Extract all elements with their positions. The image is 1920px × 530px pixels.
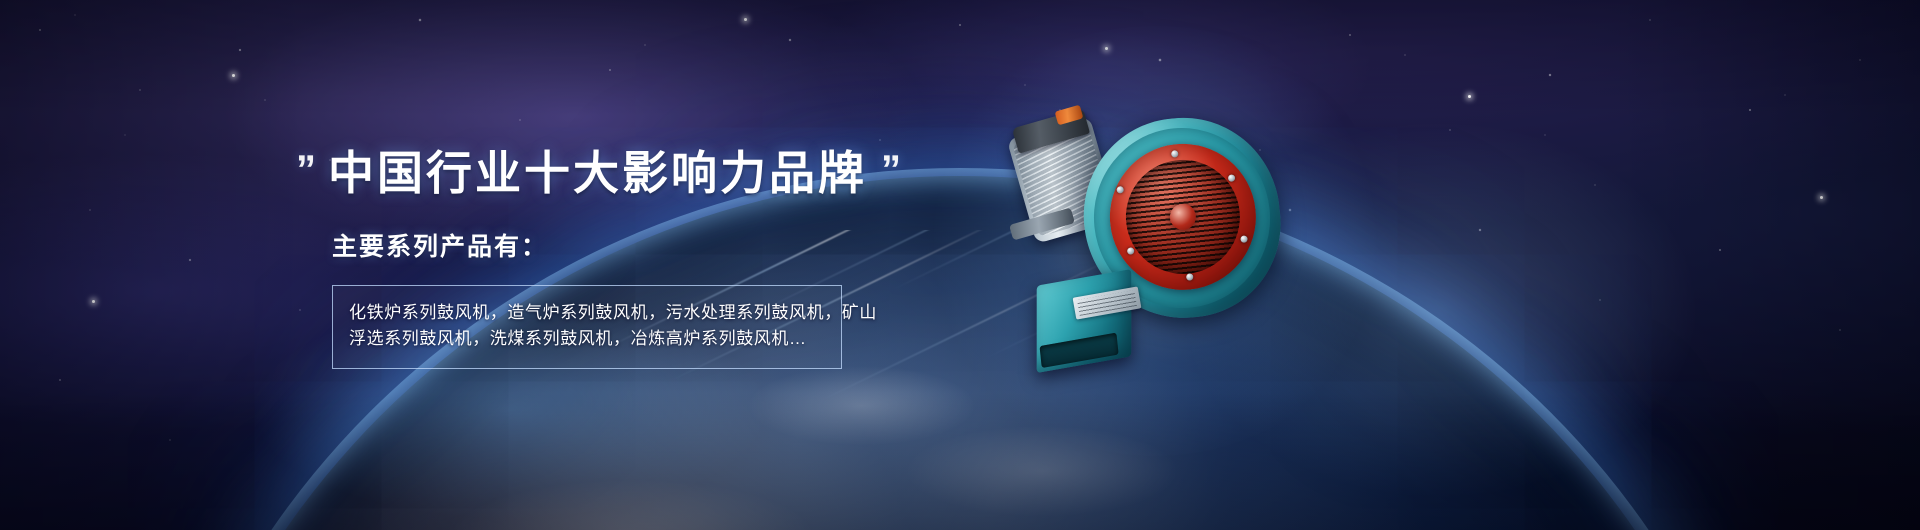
headline: ” 中国行业十大影响力品牌 ” bbox=[296, 148, 916, 199]
promo-banner: ” 中国行业十大影响力品牌 ” 主要系列产品有： 化铁炉系列鼓风机，造气炉系列鼓… bbox=[0, 0, 1920, 530]
bright-star bbox=[1468, 95, 1471, 98]
banner-copy: ” 中国行业十大影响力品牌 ” 主要系列产品有： 化铁炉系列鼓风机，造气炉系列鼓… bbox=[296, 148, 916, 369]
bright-star bbox=[232, 74, 235, 77]
bright-star bbox=[92, 300, 95, 303]
quote-close-mark: ” bbox=[881, 150, 901, 190]
product-image-blower bbox=[1000, 96, 1300, 386]
product-list-line: 化铁炉系列鼓风机，造气炉系列鼓风机，污水处理系列鼓风机，矿山 bbox=[349, 300, 825, 326]
faceplate-bolt bbox=[1228, 174, 1236, 182]
faceplate-bolt bbox=[1240, 235, 1248, 243]
quote-open-mark: ” bbox=[296, 150, 316, 190]
bright-star bbox=[1820, 196, 1823, 199]
faceplate-bolt bbox=[1127, 247, 1135, 255]
blower-outlet-duct bbox=[1037, 269, 1132, 373]
product-list-line: 浮选系列鼓风机，洗煤系列鼓风机，冶炼高炉系列鼓风机… bbox=[349, 326, 825, 352]
faceplate-bolt bbox=[1116, 186, 1124, 194]
faceplate-bolt bbox=[1171, 150, 1179, 158]
product-list-box: 化铁炉系列鼓风机，造气炉系列鼓风机，污水处理系列鼓风机，矿山 浮选系列鼓风机，洗… bbox=[332, 285, 842, 369]
subtitle: 主要系列产品有： bbox=[332, 227, 916, 263]
bright-star bbox=[744, 18, 747, 21]
headline-text: 中国行业十大影响力品牌 bbox=[328, 148, 867, 199]
faceplate-bolt bbox=[1186, 273, 1194, 281]
bright-star bbox=[1105, 47, 1108, 50]
outlet-opening bbox=[1040, 333, 1119, 368]
